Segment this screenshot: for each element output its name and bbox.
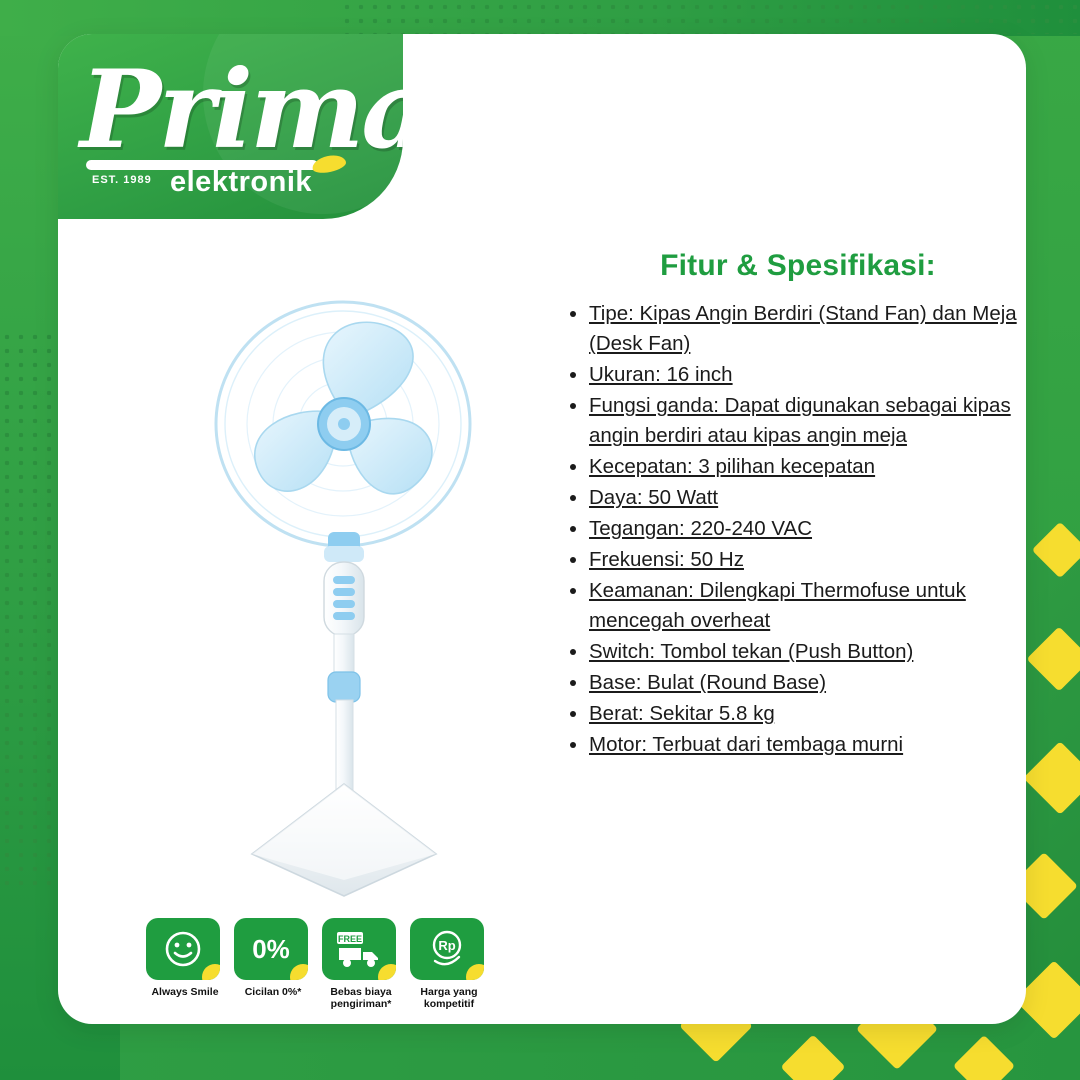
spec-item-text: Ukuran: 16 inch: [589, 363, 733, 386]
brand-logo-badge: Prima EST. 1989 elektronik: [58, 34, 403, 219]
content-card-clip: Prima EST. 1989 elektronik: [58, 34, 1026, 1024]
benefits-row: Always Smile 0% Cicilan 0%* FREE: [146, 918, 506, 1024]
spec-item-text: Keamanan: Dilengkapi Thermofuse untuk me…: [589, 579, 966, 632]
product-image-stand-fan: [178, 284, 508, 904]
spec-list-item: Keamanan: Dilengkapi Thermofuse untuk me…: [589, 576, 1026, 636]
spec-list-item: Tipe: Kipas Angin Berdiri (Stand Fan) da…: [589, 299, 1026, 359]
spec-list-item: Base: Bulat (Round Base): [589, 668, 1026, 698]
spec-list-item: Tegangan: 220-240 VAC: [589, 514, 1026, 544]
spec-title: Fitur & Spesifikasi:: [563, 249, 1026, 283]
benefit-label: Always Smile: [146, 986, 224, 998]
spec-item-text: Berat: Sekitar 5.8 kg: [589, 702, 775, 725]
spec-list-item: Motor: Terbuat dari tembaga murni: [589, 730, 1026, 760]
benefit-item: FREE Bebas biaya pengiriman*: [322, 918, 400, 1024]
spec-list: Tipe: Kipas Angin Berdiri (Stand Fan) da…: [563, 299, 1026, 760]
benefit-item: 0% Cicilan 0%*: [234, 918, 312, 1024]
svg-text:Rp: Rp: [438, 938, 455, 953]
brand-established-text: EST. 1989: [92, 174, 152, 186]
spec-list-item: Frekuensi: 50 Hz: [589, 545, 1026, 575]
background-dot-pattern-top: [340, 0, 1080, 34]
spec-item-text: Fungsi ganda: Dapat digunakan sebagai ki…: [589, 394, 1011, 447]
benefit-badge-text: 0%: [252, 934, 290, 965]
spec-item-text: Motor: Terbuat dari tembaga murni: [589, 733, 903, 756]
spec-item-text: Tegangan: 220-240 VAC: [589, 517, 812, 540]
brand-name-text: Prima: [80, 56, 403, 164]
svg-text:FREE: FREE: [338, 934, 362, 944]
poster-root: Prima EST. 1989 elektronik: [0, 0, 1080, 1080]
spec-item-text: Daya: 50 Watt: [589, 486, 718, 509]
spec-item-text: Frekuensi: 50 Hz: [589, 548, 744, 571]
smiley-icon: [146, 918, 220, 980]
spec-item-text: Kecepatan: 3 pilihan kecepatan: [589, 455, 875, 478]
benefit-label: Bebas biaya pengiriman*: [322, 986, 400, 1010]
spec-item-text: Switch: Tombol tekan (Push Button): [589, 640, 913, 663]
spec-item-text: Base: Bulat (Round Base): [589, 671, 826, 694]
spec-list-item: Berat: Sekitar 5.8 kg: [589, 699, 1026, 729]
benefit-label: Cicilan 0%*: [234, 986, 312, 998]
spec-list-item: Daya: 50 Watt: [589, 483, 1026, 513]
benefit-item: Rp Harga yang kompetitif: [410, 918, 488, 1024]
percent-zero-icon: 0%: [234, 918, 308, 980]
benefit-label: Harga yang kompetitif: [410, 986, 488, 1010]
brand-category-text: elektronik: [170, 166, 312, 199]
spec-list-item: Ukuran: 16 inch: [589, 360, 1026, 390]
benefit-item: Always Smile: [146, 918, 224, 1024]
spec-panel: Fitur & Spesifikasi: Tipe: Kipas Angin B…: [563, 249, 1026, 761]
spec-list-item: Fungsi ganda: Dapat digunakan sebagai ki…: [589, 391, 1026, 451]
spec-list-item: Kecepatan: 3 pilihan kecepatan: [589, 452, 1026, 482]
free-delivery-truck-icon: FREE: [322, 918, 396, 980]
spec-list-item: Switch: Tombol tekan (Push Button): [589, 637, 1026, 667]
spec-item-text: Tipe: Kipas Angin Berdiri (Stand Fan) da…: [589, 302, 1017, 355]
rupiah-price-tag-icon: Rp: [410, 918, 484, 980]
